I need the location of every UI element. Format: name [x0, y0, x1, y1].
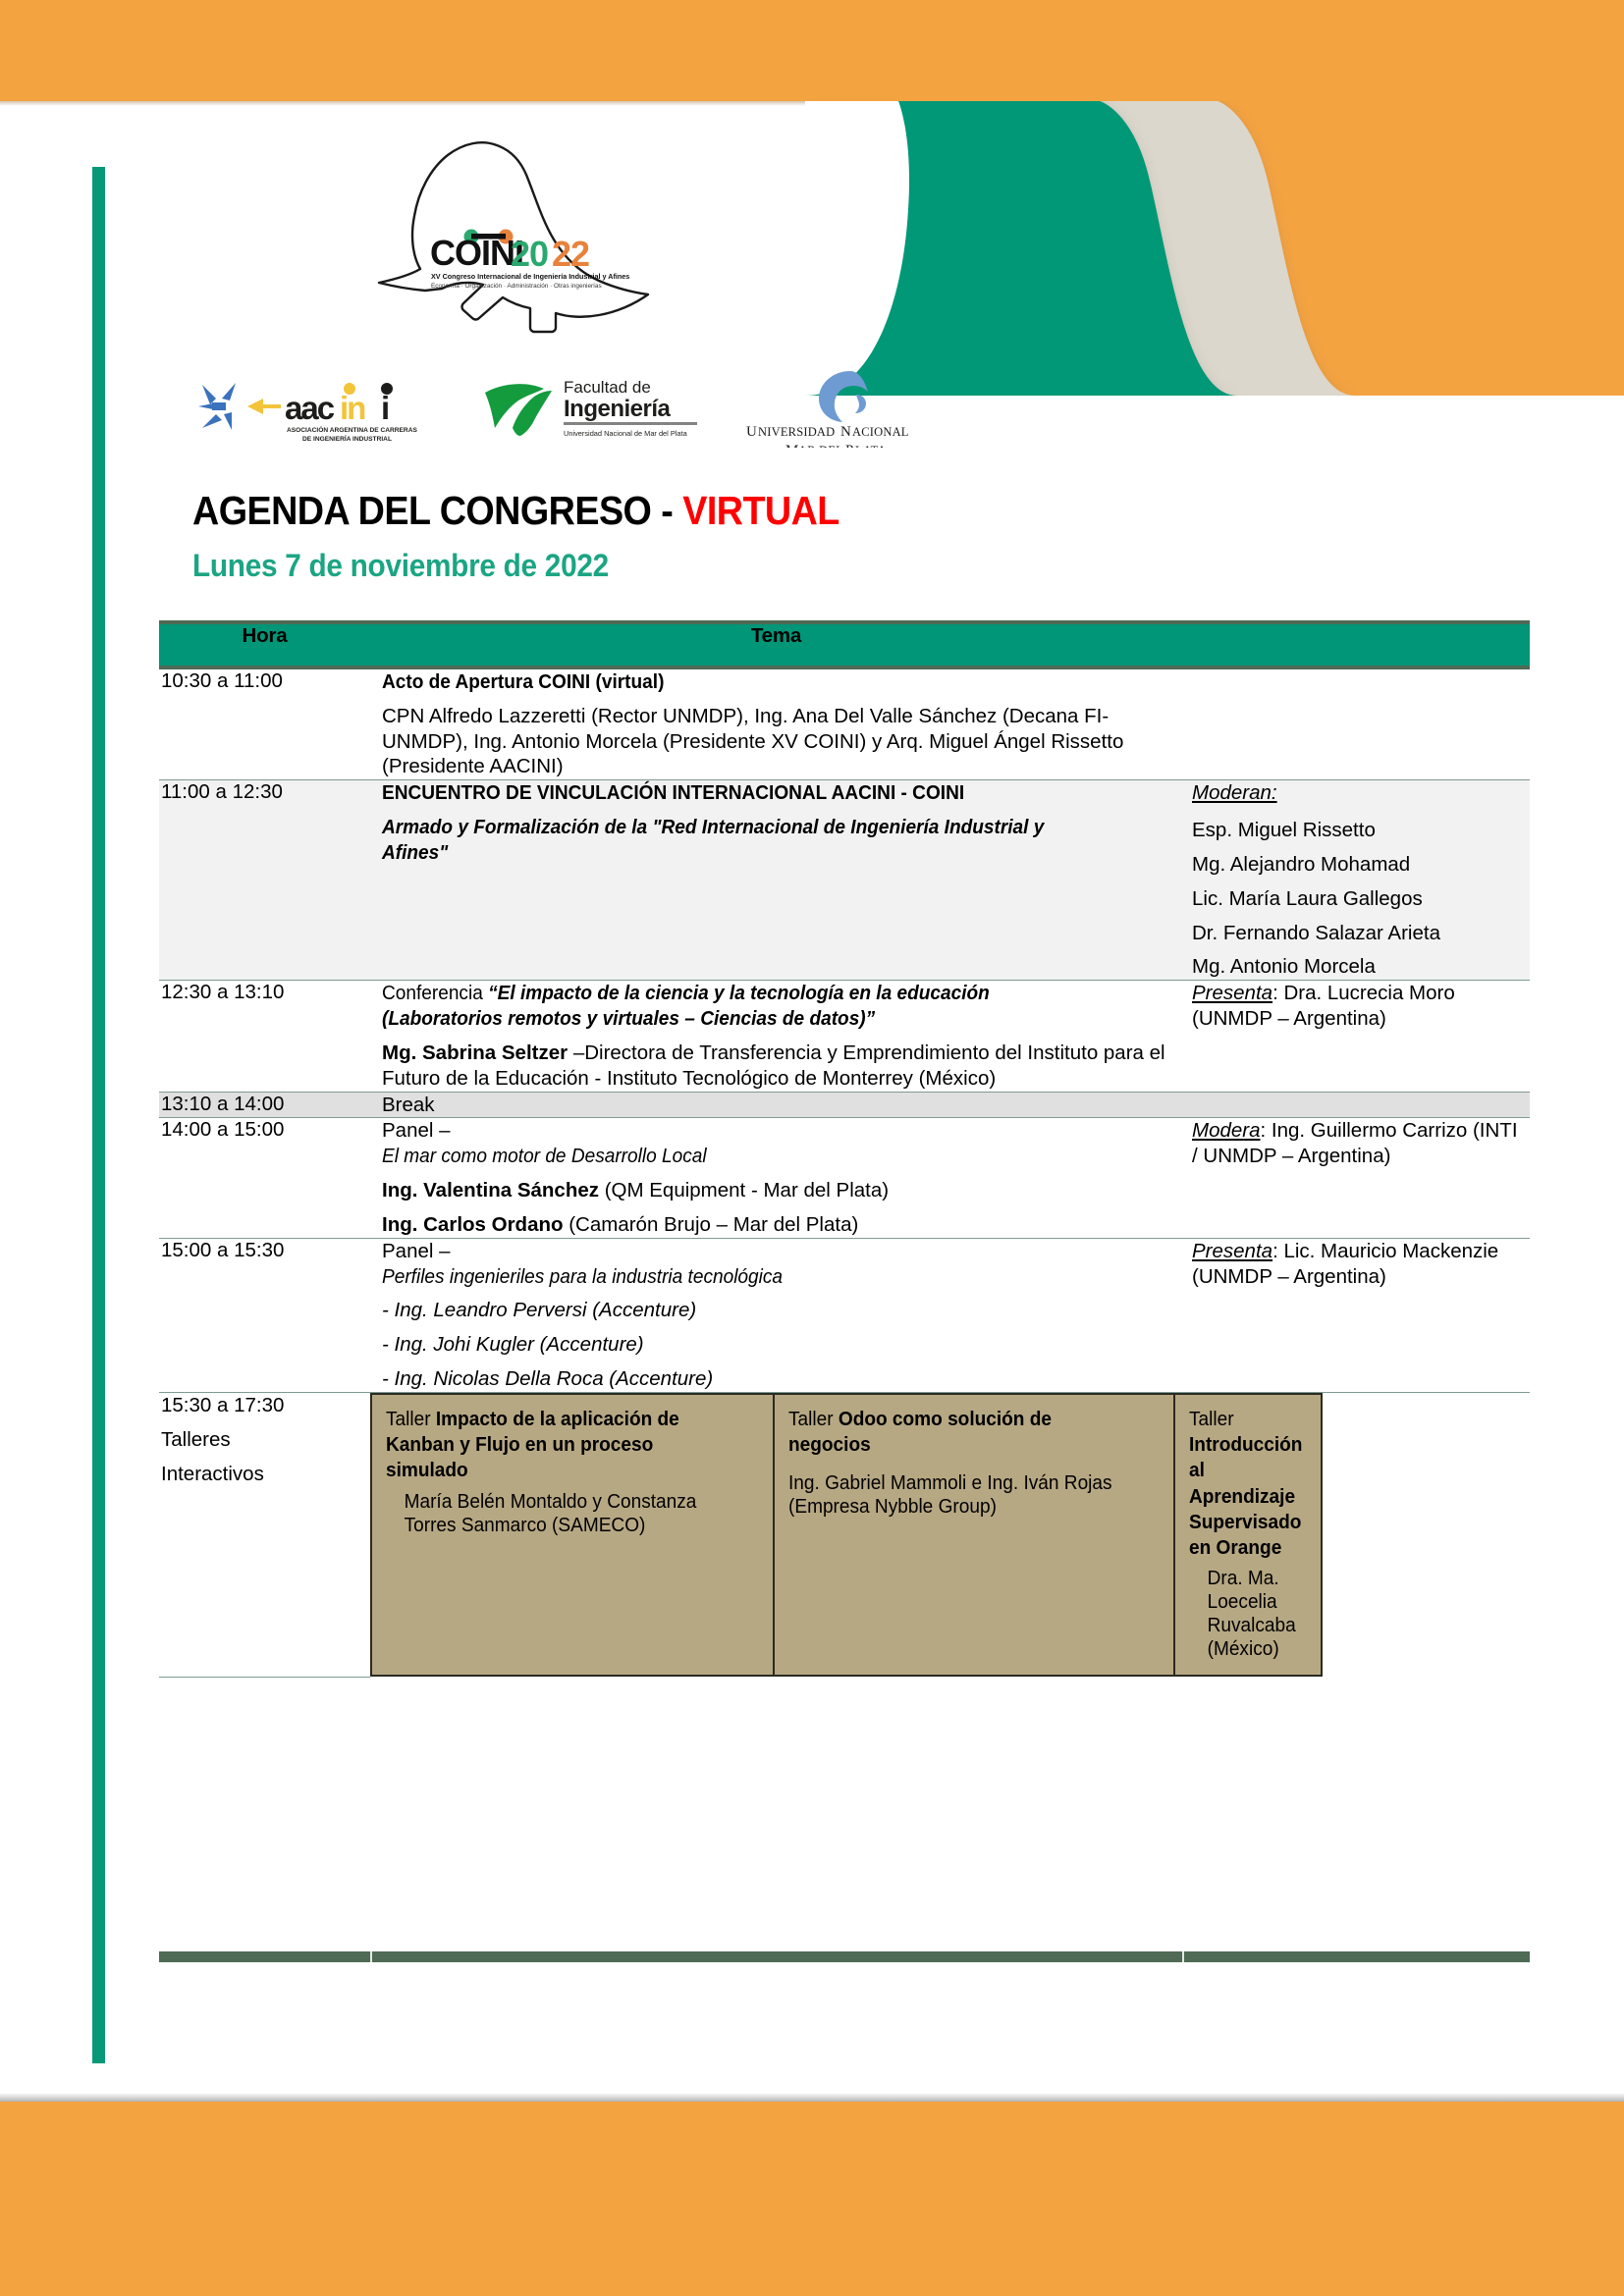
tema-line: - Ing. Leandro Perversi (Accenture) — [382, 1298, 1168, 1323]
tema-line: CPN Alfredo Lazzeretti (Rector UNMDP), I… — [382, 704, 1168, 779]
tema-emphasis: Perfiles ingenieriles para la industria … — [382, 1264, 1113, 1290]
cell-hora: 13:10 a 14:00 — [159, 1092, 370, 1118]
cell-moderador: Presenta: Dra. Lucrecia Moro (UNMDP – Ar… — [1182, 981, 1530, 1092]
table-row: 14:00 a 15:00 Panel – El mar como motor … — [159, 1118, 1530, 1238]
modera-line: Modera: Ing. Guillermo Carrizo (INTI / U… — [1192, 1118, 1522, 1169]
talleres-label-2: Interactivos — [161, 1462, 366, 1487]
svg-text:COINI: COINI — [430, 233, 523, 273]
facultad-de-ingenieria-logo: Facultad de Ingeniería Universidad Nacio… — [479, 367, 705, 448]
svg-text:aac: aac — [285, 390, 335, 426]
aacini-logo: aac in i ASOCIACIÓN ARGENTINA DE CARRERA… — [192, 373, 418, 446]
column-header-moderador — [1182, 622, 1530, 667]
bottom-green-rule — [159, 1951, 1530, 1962]
tema-prefix: Panel – — [382, 1240, 451, 1262]
cell-hora: 11:00 a 12:30 — [159, 780, 370, 981]
tema-line: - Ing. Nicolas Della Roca (Accenture) — [382, 1366, 1168, 1392]
agenda-table: Hora Tema 10:30 a 11:00 Acto de Apertura… — [159, 620, 1530, 1678]
left-green-vertical-rule — [92, 167, 105, 2063]
tema-detail: (QM Equipment - Mar del Plata) — [605, 1179, 889, 1201]
svg-text:Economía · Organización · Admi: Economía · Organización · Administración… — [431, 283, 602, 290]
talleres-hora: 15:30 a 17:30 — [161, 1393, 366, 1418]
tema-prefix: Conferencia — [382, 982, 488, 1004]
document-page: COINI 20 22 XV Congreso Internacional de… — [0, 0, 1624, 2296]
cell-moderador — [1182, 1092, 1530, 1118]
partner-logos-row: aac in i ASOCIACIÓN ARGENTINA DE CARRERA… — [192, 363, 978, 452]
svg-text:ASOCIACIÓN ARGENTINA DE CARRER: ASOCIACIÓN ARGENTINA DE CARRERAS — [287, 425, 417, 434]
svg-text:AR DEL: AR DEL — [798, 444, 843, 448]
tema-line: Panel – El mar como motor de Desarrollo … — [382, 1118, 1168, 1169]
svg-text:LATA: LATA — [855, 444, 887, 448]
tema-line: Acto de Apertura COINI (virtual) — [382, 669, 1113, 695]
cell-tema: Break — [370, 1092, 1182, 1118]
cell-tema: Conferencia “El impacto de la ciencia y … — [370, 981, 1182, 1092]
workshop-label: Taller — [1189, 1408, 1234, 1430]
presenta-label: Presenta — [1192, 1240, 1272, 1262]
svg-text:NIVERSIDAD: NIVERSIDAD — [758, 425, 835, 439]
table-row-talleres: 15:30 a 17:30 Talleres Interactivos Tall… — [159, 1392, 1530, 1677]
cell-hora: 15:00 a 15:30 — [159, 1238, 370, 1392]
table-row: 13:10 a 14:00 Break — [159, 1092, 1530, 1118]
svg-text:22: 22 — [552, 234, 589, 274]
svg-text:U: U — [746, 424, 757, 440]
agenda-table-head: Hora Tema — [159, 622, 1530, 667]
workshop-box-3: Taller Introducción al Aprendizaje Super… — [1175, 1393, 1323, 1677]
svg-text:Universidad Nacional de Mar de: Universidad Nacional de Mar del Plata — [564, 429, 688, 438]
cell-hora-talleres: 15:30 a 17:30 Talleres Interactivos — [159, 1392, 370, 1677]
tema-line: Ing. Valentina Sánchez (QM Equipment - M… — [382, 1178, 1168, 1203]
svg-text:P: P — [845, 443, 853, 448]
workshop-presenters-2: Ing. Gabriel Mammoli e Ing. Iván Rojas (… — [788, 1471, 1137, 1519]
universidad-nacional-mar-del-plata-logo: U NIVERSIDAD N ACIONAL de M AR DEL P LAT… — [734, 365, 960, 448]
workshop-label: Taller — [788, 1408, 839, 1430]
presenta-line: Presenta: Dra. Lucrecia Moro (UNMDP – Ar… — [1192, 981, 1522, 1032]
rule-divider-2 — [1182, 1951, 1184, 1962]
rule-divider-1 — [370, 1951, 372, 1962]
tema-speaker: Ing. Valentina Sánchez — [382, 1179, 605, 1201]
page-title: AGENDA DEL CONGRESO - VIRTUAL — [192, 491, 1005, 531]
cell-hora: 10:30 a 11:00 — [159, 667, 370, 780]
page-subtitle: Lunes 7 de noviembre de 2022 — [192, 550, 1014, 581]
cell-tema: ENCUENTRO DE VINCULACIÓN INTERNACIONAL A… — [370, 780, 1182, 981]
bottom-band-shadow — [0, 2093, 1624, 2102]
cell-moderador: Moderan: Esp. Miguel Rissetto Mg. Alejan… — [1182, 780, 1530, 981]
bottom-orange-band — [0, 2102, 1624, 2296]
table-row: 10:30 a 11:00 Acto de Apertura COINI (vi… — [159, 667, 1530, 780]
workshop-title-3: Taller Introducción al Aprendizaje Super… — [1189, 1407, 1302, 1561]
workshop-title-1: Taller Impacto de la aplicación de Kanba… — [386, 1407, 736, 1484]
workshop-label: Taller — [386, 1408, 436, 1430]
column-header-hora: Hora — [159, 622, 370, 667]
moderador-name: Dr. Fernando Salazar Arieta — [1192, 921, 1522, 946]
workshop-cell-1: Taller Impacto de la aplicación de Kanba… — [370, 1392, 1182, 1677]
tema-line: Conferencia “El impacto de la ciencia y … — [382, 981, 1113, 1032]
agenda-table-body: 10:30 a 11:00 Acto de Apertura COINI (vi… — [159, 667, 1530, 1677]
column-header-tema: Tema — [370, 622, 1182, 667]
workshop-spacer — [788, 1458, 1164, 1471]
cell-tema: Acto de Apertura COINI (virtual) CPN Alf… — [370, 667, 1182, 780]
svg-text:de: de — [770, 446, 781, 448]
presenta-line: Presenta: Lic. Mauricio Mackenzie (UNMDP… — [1192, 1239, 1522, 1290]
table-row: 15:00 a 15:30 Panel – Perfiles ingenieri… — [159, 1238, 1530, 1392]
tema-speaker: Mg. Sabrina Seltzer — [382, 1041, 573, 1064]
cell-hora: 14:00 a 15:00 — [159, 1118, 370, 1238]
workshop-presenters-3: Dra. Ma. Loecelia Ruvalcaba (México) — [1189, 1567, 1302, 1661]
page-title-virtual: VIRTUAL — [682, 488, 839, 533]
svg-text:N: N — [840, 424, 851, 440]
talleres-label-1: Talleres — [161, 1427, 366, 1453]
svg-text:Ingeniería: Ingeniería — [564, 396, 672, 422]
cell-moderador — [1182, 667, 1530, 780]
cell-moderador: Modera: Ing. Guillermo Carrizo (INTI / U… — [1182, 1118, 1530, 1238]
modera-label: Modera — [1192, 1119, 1261, 1142]
svg-text:20: 20 — [511, 234, 548, 274]
tema-line: Panel – Perfiles ingenieriles para la in… — [382, 1239, 1168, 1290]
tema-line: Ing. Carlos Ordano (Camarón Brujo – Mar … — [382, 1212, 1168, 1238]
moderador-name: Mg. Alejandro Mohamad — [1192, 852, 1522, 878]
moderador-name: Lic. María Laura Gallegos — [1192, 886, 1522, 912]
svg-text:DE INGENIERÍA INDUSTRIAL: DE INGENIERÍA INDUSTRIAL — [302, 434, 392, 443]
svg-text:ACIONAL: ACIONAL — [852, 425, 909, 439]
tema-detail: (Camarón Brujo – Mar del Plata) — [568, 1213, 858, 1236]
svg-text:in: in — [340, 390, 365, 426]
workshop-title-2: Taller Odoo como solución de negocios — [788, 1407, 1137, 1458]
workshop-title-text: Introducción al Aprendizaje Supervisado … — [1189, 1433, 1302, 1559]
moderador-name: Esp. Miguel Rissetto — [1192, 818, 1522, 843]
presenta-label: Presenta — [1192, 982, 1272, 1004]
coini-2022-logo: COINI 20 22 XV Congreso Internacional de… — [373, 126, 697, 342]
cell-tema: Panel – El mar como motor de Desarrollo … — [370, 1118, 1182, 1238]
workshop-presenters-1: María Belén Montaldo y Constanza Torres … — [386, 1490, 736, 1537]
decorative-swoosh — [805, 101, 1624, 396]
moderador-label: Moderan: — [1192, 780, 1522, 806]
cell-hora: 12:30 a 13:10 — [159, 981, 370, 1092]
cell-tema: Panel – Perfiles ingenieriles para la in… — [370, 1238, 1182, 1392]
tema-line: Armado y Formalización de la "Red Intern… — [382, 815, 1113, 866]
tema-line: Break — [382, 1093, 1168, 1118]
tema-line: Mg. Sabrina Seltzer –Directora de Transf… — [382, 1041, 1168, 1092]
tema-line: ENCUENTRO DE VINCULACIÓN INTERNACIONAL A… — [382, 780, 1113, 806]
workshop-box-2: Taller Odoo como solución de negocios In… — [775, 1393, 1175, 1677]
top-orange-band — [0, 0, 1624, 101]
table-header-row: Hora Tema — [159, 622, 1530, 667]
tema-prefix: Panel – — [382, 1119, 451, 1142]
moderador-name: Mg. Antonio Morcela — [1192, 954, 1522, 980]
svg-text:Facultad de: Facultad de — [564, 378, 651, 397]
cell-moderador: Presenta: Lic. Mauricio Mackenzie (UNMDP… — [1182, 1238, 1530, 1392]
page-title-main: AGENDA DEL CONGRESO - — [192, 488, 682, 533]
tema-line: - Ing. Johi Kugler (Accenture) — [382, 1332, 1168, 1358]
workshop-box-1: Taller Impacto de la aplicación de Kanba… — [370, 1393, 775, 1677]
table-row: 12:30 a 13:10 Conferencia “El impacto de… — [159, 981, 1530, 1092]
svg-text:XV Congreso Internacional de: XV Congreso Internacional de Ingeniería … — [431, 272, 629, 281]
tema-emphasis: El mar como motor de Desarrollo Local — [382, 1144, 1113, 1169]
svg-text:M: M — [785, 443, 798, 448]
svg-text:i: i — [381, 390, 388, 426]
tema-speaker: Ing. Carlos Ordano — [382, 1213, 568, 1236]
table-row: 11:00 a 12:30 ENCUENTRO DE VINCULACIÓN I… — [159, 780, 1530, 981]
